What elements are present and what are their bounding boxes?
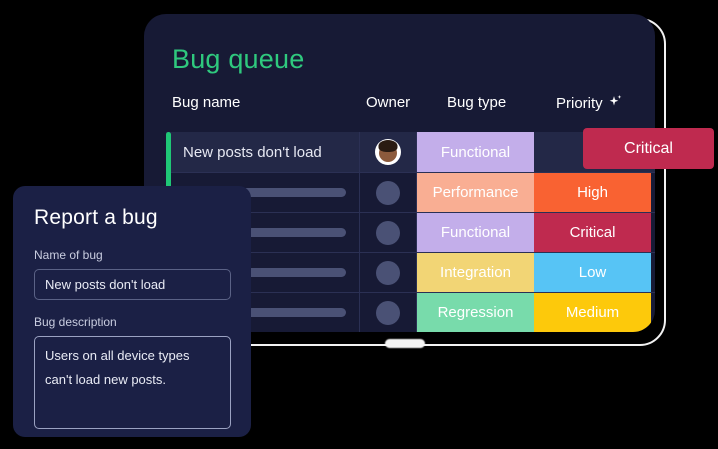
cell-priority[interactable]: Low (534, 253, 651, 292)
avatar-placeholder (376, 221, 400, 245)
column-header-bug-type: Bug type (447, 94, 506, 111)
bug-description-value: Users on all device types can't load new… (45, 348, 190, 387)
column-header-bug-name: Bug name (172, 94, 240, 111)
cell-priority[interactable]: Medium (534, 293, 651, 332)
screenshot-root: Bug queue Bug name Owner Bug type Priori… (0, 0, 718, 449)
name-of-bug-input[interactable]: New posts don't load (34, 269, 231, 300)
cell-bug-type[interactable]: Performance (417, 173, 534, 212)
bug-type-label: Regression (438, 304, 514, 321)
cell-bug-name[interactable]: New posts don't load (166, 132, 360, 172)
column-header-priority: Priority (556, 94, 623, 113)
column-header-priority-label: Priority (556, 95, 603, 112)
page-title: Bug queue (172, 44, 304, 75)
cell-owner[interactable] (360, 253, 417, 292)
bug-description-label: Bug description (34, 315, 230, 329)
avatar-placeholder (376, 261, 400, 285)
avatar-placeholder (376, 181, 400, 205)
bug-type-label: Functional (441, 144, 510, 161)
cell-bug-type[interactable]: Functional (417, 132, 534, 172)
table-row[interactable]: New posts don't loadFunctional (166, 132, 655, 172)
priority-label: Low (579, 264, 607, 281)
priority-label: Critical (570, 224, 616, 241)
cell-owner[interactable] (360, 132, 417, 172)
bug-type-label: Integration (440, 264, 511, 281)
home-indicator (385, 339, 425, 348)
bug-type-label: Functional (441, 224, 510, 241)
name-of-bug-value: New posts don't load (45, 277, 165, 292)
form-title: Report a bug (34, 206, 230, 230)
critical-priority-badge-label: Critical (624, 140, 673, 158)
avatar-hair (379, 140, 398, 152)
cell-bug-type[interactable]: Regression (417, 293, 534, 332)
bug-name-text: New posts don't load (183, 144, 322, 161)
cell-owner[interactable] (360, 173, 417, 212)
avatar (375, 139, 401, 165)
cell-priority[interactable]: High (534, 173, 651, 212)
sparkle-icon (608, 94, 623, 113)
cell-owner[interactable] (360, 213, 417, 252)
priority-label: High (577, 184, 608, 201)
report-a-bug-card: Report a bug Name of bug New posts don't… (13, 186, 251, 437)
priority-label: Medium (566, 304, 619, 321)
cell-priority[interactable]: Critical (534, 213, 651, 252)
cell-owner[interactable] (360, 293, 417, 332)
name-of-bug-label: Name of bug (34, 248, 230, 262)
cell-bug-type[interactable]: Integration (417, 253, 534, 292)
cell-bug-type[interactable]: Functional (417, 213, 534, 252)
bug-description-textarea[interactable]: Users on all device types can't load new… (34, 336, 231, 429)
avatar-placeholder (376, 301, 400, 325)
column-header-owner: Owner (366, 94, 410, 111)
critical-priority-badge[interactable]: Critical (583, 128, 714, 169)
bug-type-label: Performance (433, 184, 519, 201)
table-header: Bug name Owner Bug type Priority (144, 94, 655, 124)
